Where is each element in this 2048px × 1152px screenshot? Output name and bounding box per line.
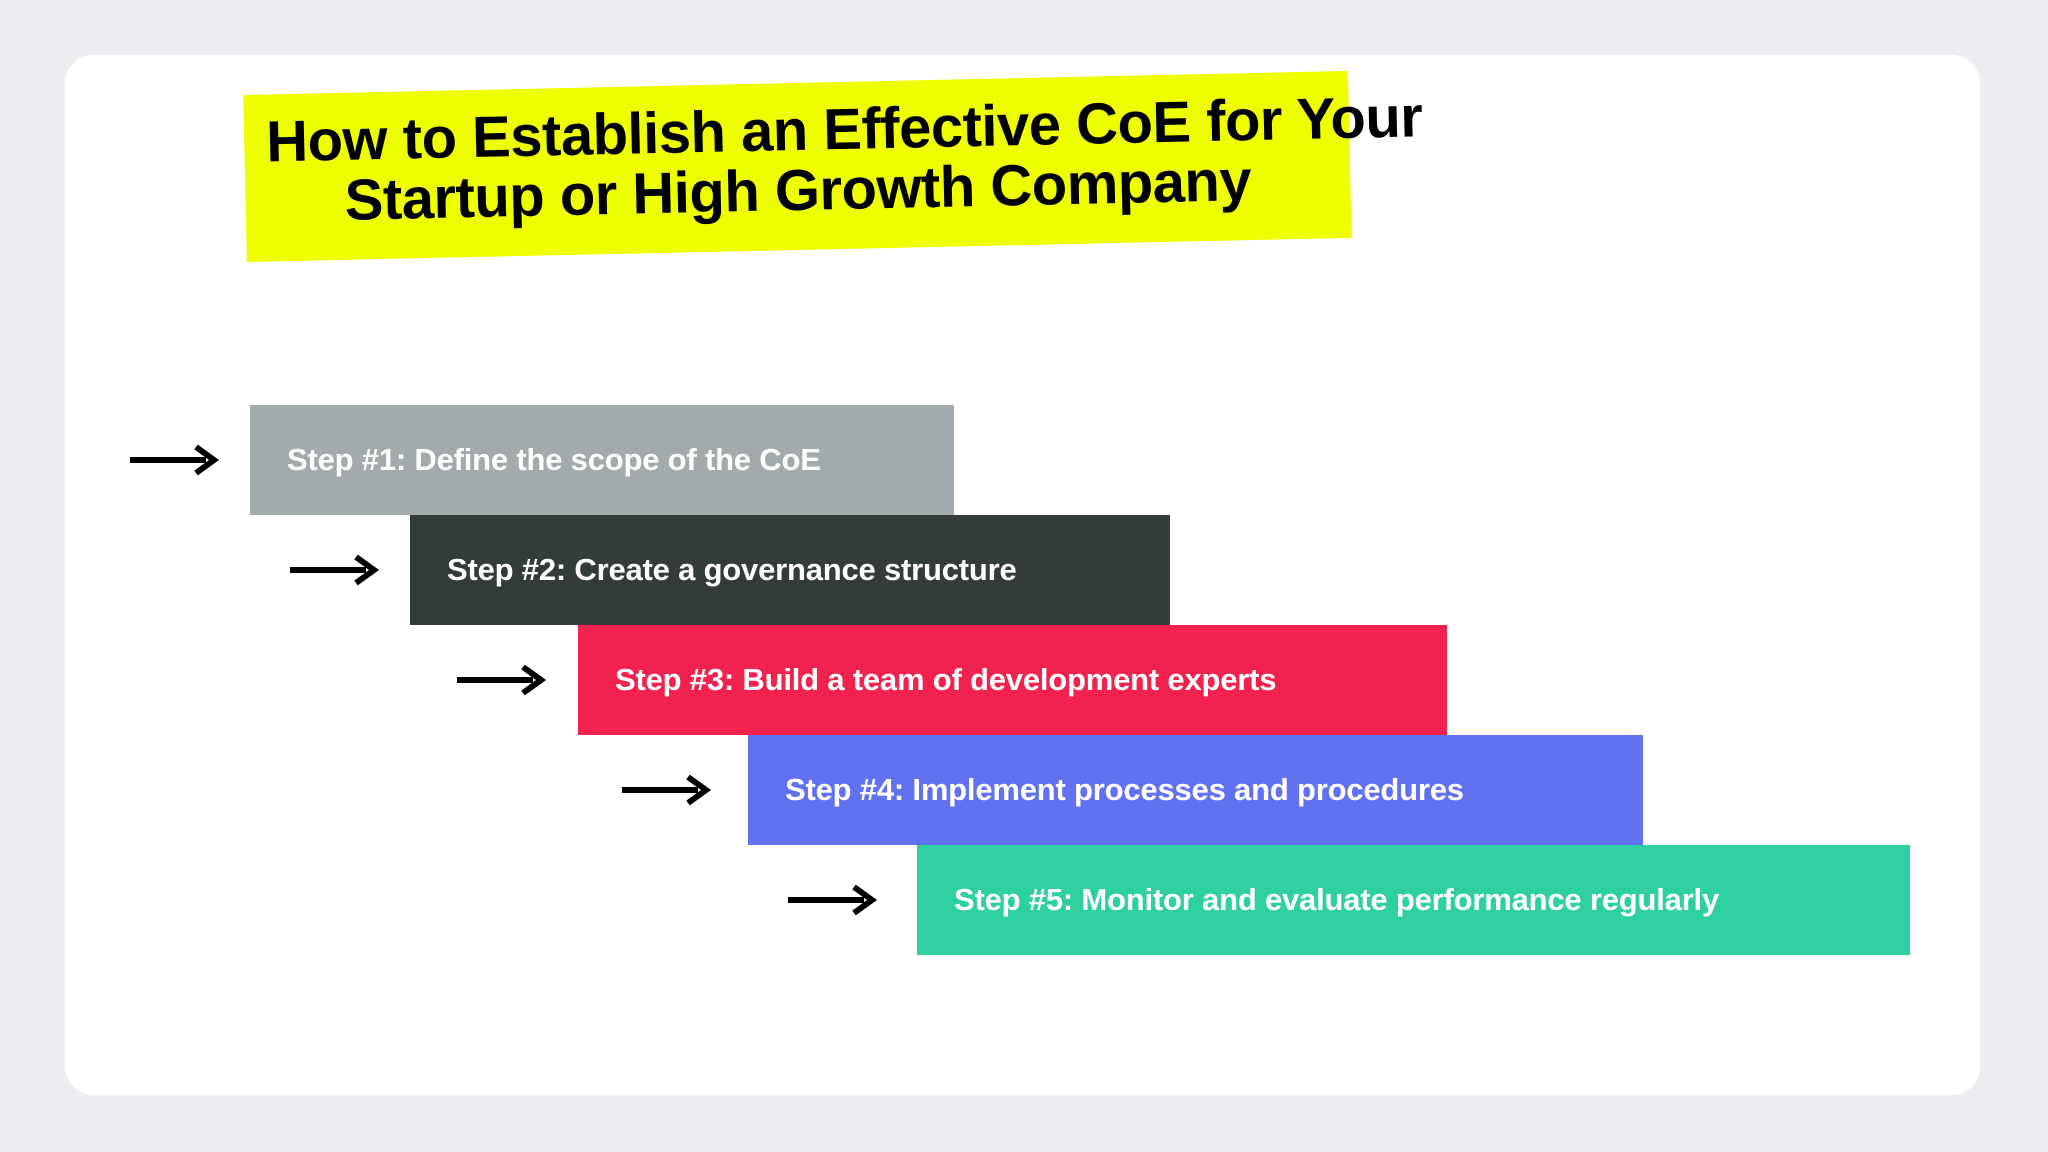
step-bar-3[interactable]: Step #3: Build a team of development exp…	[578, 625, 1447, 735]
step-bar-4[interactable]: Step #4: Implement processes and procedu…	[748, 735, 1643, 845]
step-label-3: Step #3: Build a team of development exp…	[615, 662, 1276, 698]
step-label-5: Step #5: Monitor and evaluate performanc…	[954, 882, 1719, 918]
title-highlight: How to Establish an Effective CoE for Yo…	[243, 71, 1351, 263]
arrow-right-icon	[128, 443, 220, 477]
step-bar-1[interactable]: Step #1: Define the scope of the CoE	[250, 405, 954, 515]
page-title: How to Establish an Effective CoE for Yo…	[243, 71, 1351, 263]
step-row-2: Step #2: Create a governance structure	[0, 515, 2048, 625]
step-bar-2[interactable]: Step #2: Create a governance structure	[410, 515, 1170, 625]
step-row-4: Step #4: Implement processes and procedu…	[0, 735, 2048, 845]
step-bar-5[interactable]: Step #5: Monitor and evaluate performanc…	[917, 845, 1910, 955]
step-row-5: Step #5: Monitor and evaluate performanc…	[0, 845, 2048, 955]
steps-list: Step #1: Define the scope of the CoE Ste…	[0, 405, 2048, 955]
step-label-4: Step #4: Implement processes and procedu…	[785, 772, 1464, 808]
infographic-canvas: How to Establish an Effective CoE for Yo…	[0, 0, 2048, 1152]
step-label-2: Step #2: Create a governance structure	[447, 552, 1017, 588]
arrow-right-icon	[620, 773, 712, 807]
step-row-1: Step #1: Define the scope of the CoE	[0, 405, 2048, 515]
arrow-right-icon	[455, 663, 547, 697]
step-label-1: Step #1: Define the scope of the CoE	[287, 442, 821, 478]
arrow-right-icon	[786, 883, 878, 917]
step-row-3: Step #3: Build a team of development exp…	[0, 625, 2048, 735]
arrow-right-icon	[288, 553, 380, 587]
